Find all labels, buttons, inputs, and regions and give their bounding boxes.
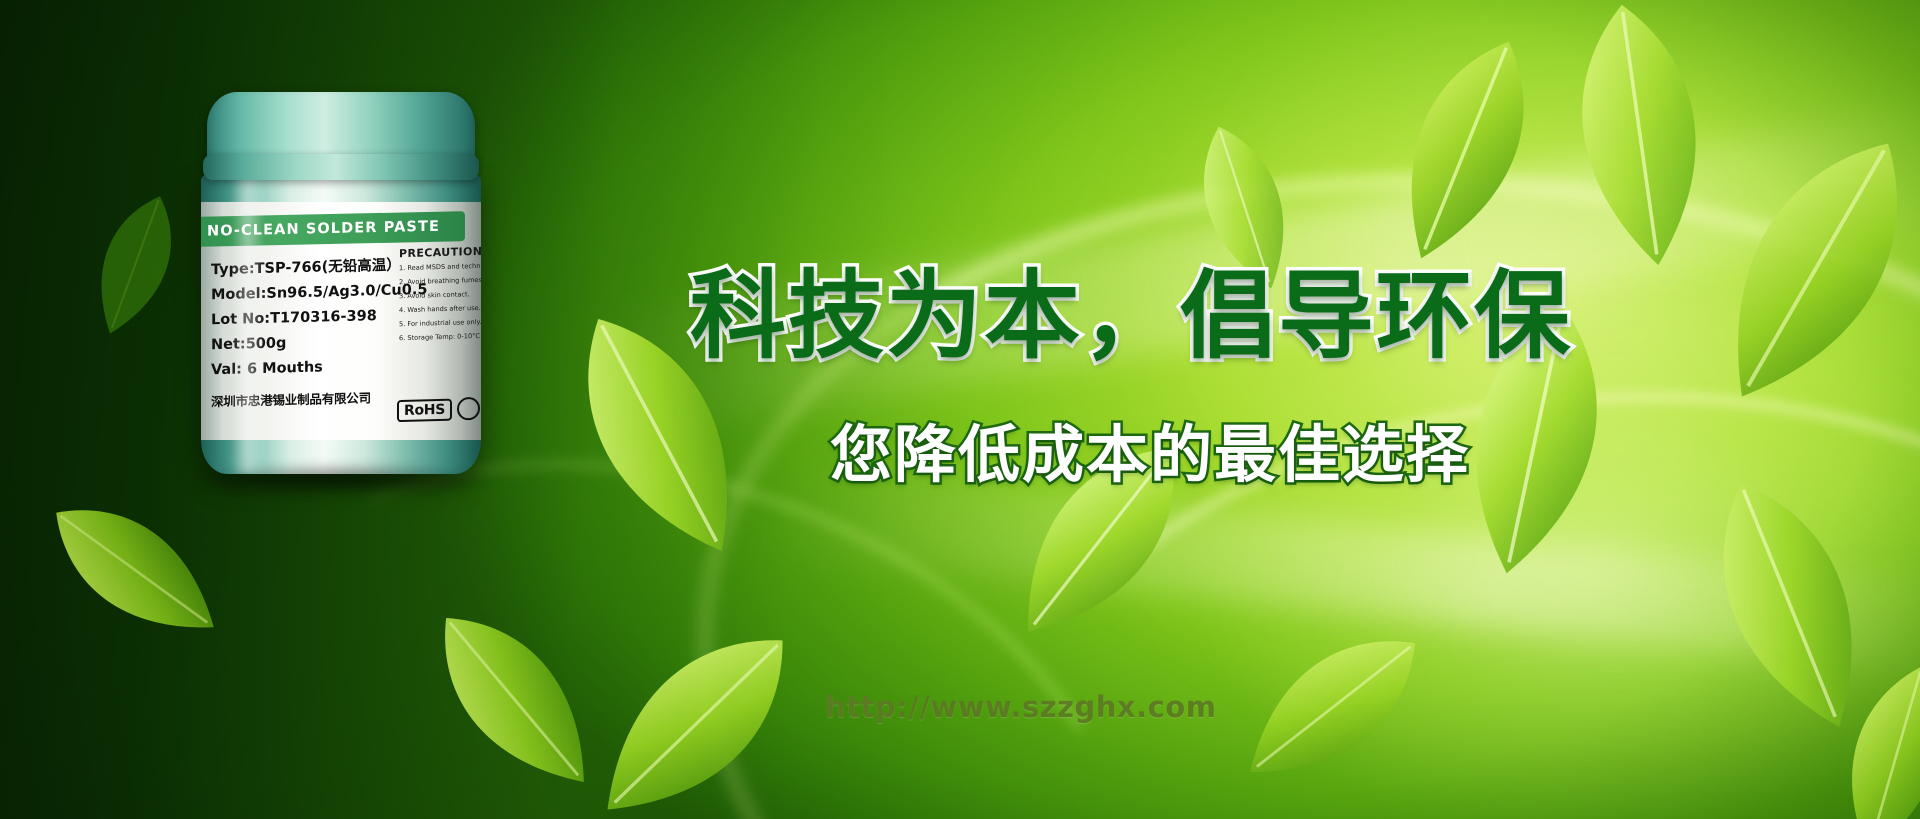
precaution-item: 6. Storage Temp: 0-10°C	[399, 332, 481, 344]
product-jar: NO-CLEAN SOLDER PASTE Type:TSP-766(无铅高温）…	[193, 92, 493, 487]
manufacturer-name: 深圳市忠港锡业制品有限公司	[211, 385, 391, 414]
recycle-circle-icon	[457, 397, 480, 421]
label-product-band: NO-CLEAN SOLDER PASTE	[201, 211, 465, 247]
rohs-label: RoHS	[397, 398, 452, 422]
jar-body: NO-CLEAN SOLDER PASTE Type:TSP-766(无铅高温）…	[201, 174, 481, 474]
precaution-item: 3. Avoid skin contact.	[399, 290, 481, 302]
label-spec-list: Type:TSP-766(无铅高温） Model:Sn96.5/Ag3.0/Cu…	[211, 254, 391, 414]
banner-subheadline: 您降低成本的最佳选择	[830, 404, 1470, 494]
jar-label: NO-CLEAN SOLDER PASTE Type:TSP-766(无铅高温）…	[201, 202, 481, 440]
website-url: http://www.szzghx.com	[825, 690, 1216, 724]
jar-drop-shadow	[199, 464, 485, 494]
precaution-item: 1. Read MSDS and technical data before u…	[399, 262, 481, 274]
spec-lot-no: Lot No:T170316-398	[211, 304, 391, 333]
label-product-name: NO-CLEAN SOLDER PASTE	[201, 219, 440, 240]
label-precaution-block: PRECAUTION 1. Read MSDS and technical da…	[399, 245, 481, 348]
jar-lid-rim	[203, 154, 479, 180]
promotional-banner: NO-CLEAN SOLDER PASTE Type:TSP-766(无铅高温）…	[0, 0, 1920, 819]
precaution-item: 4. Wash hands after use.	[399, 304, 481, 316]
spec-validity: Val: 6 Mouths	[211, 354, 391, 383]
precaution-item: 2. Avoid breathing fumes when soldering.	[399, 276, 481, 288]
precaution-title: PRECAUTION	[399, 245, 481, 260]
rohs-badge: RoHS	[397, 397, 480, 422]
precaution-item: 5. For industrial use only.	[399, 318, 481, 330]
banner-headline: 科技为本，倡导环保	[690, 238, 1572, 377]
